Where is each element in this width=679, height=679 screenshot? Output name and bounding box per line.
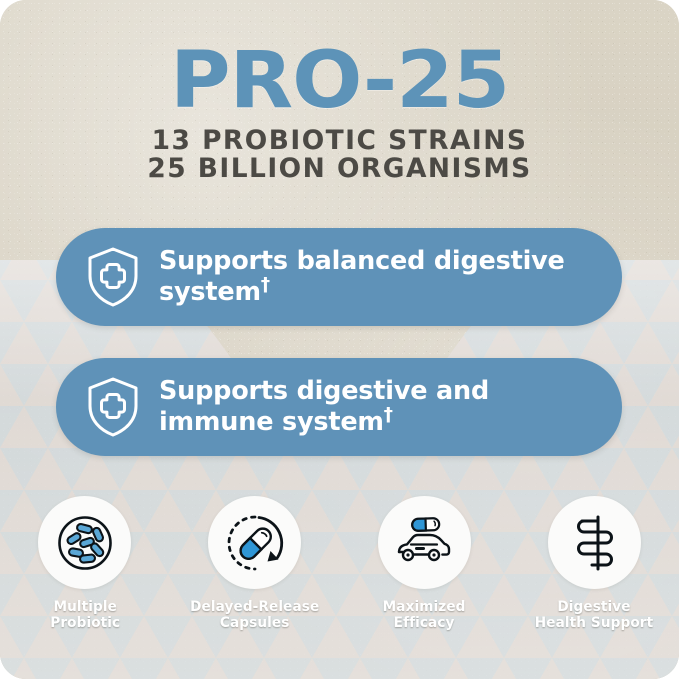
- claim-pill-1: Supports balanced digestive system†: [56, 228, 622, 326]
- feature-label-line-1: Delayed-Release: [190, 599, 319, 615]
- feature-digestive-health-support: Digestive Health Support: [509, 496, 679, 656]
- brand-title: PRO-25: [0, 44, 679, 119]
- subtitle-line-2: 25 BILLION ORGANISMS: [7, 155, 672, 183]
- feature-label: Maximized Efficacy: [383, 599, 466, 631]
- claim-pill-1-dagger: †: [261, 275, 270, 296]
- subtitle-line-1: 13 PROBIOTIC STRAINS: [7, 127, 672, 155]
- feature-label-line-2: Probiotic: [50, 615, 120, 631]
- feature-multiple-probiotic: Multiple Probiotic: [0, 496, 170, 656]
- petri-dish-bacteria-icon: [53, 511, 117, 575]
- feature-label: Delayed-Release Capsules: [190, 599, 319, 631]
- feature-disc: [378, 496, 471, 589]
- claim-pill-1-label: Supports balanced digestive system: [159, 246, 565, 307]
- feature-disc: [38, 496, 131, 589]
- feature-label: Digestive Health Support: [535, 599, 653, 631]
- car-capsule-icon: [392, 511, 456, 575]
- product-subtitle: 13 PROBIOTIC STRAINS 25 BILLION ORGANISM…: [7, 127, 672, 183]
- feature-label-line-1: Multiple: [50, 599, 120, 615]
- feature-disc: [548, 496, 641, 589]
- claim-pill-2-text: Supports digestive and immune system†: [159, 376, 579, 438]
- feature-label-line-1: Digestive: [535, 599, 653, 615]
- claim-pill-2-label: Supports digestive and immune system: [159, 376, 489, 437]
- shield-plus-icon: [85, 246, 141, 308]
- header-block: PRO-25 13 PROBIOTIC STRAINS 25 BILLION O…: [0, 44, 679, 182]
- product-infographic-card: PRO-25 13 PROBIOTIC STRAINS 25 BILLION O…: [0, 0, 679, 679]
- feature-label-line-2: Efficacy: [383, 615, 466, 631]
- claim-pill-2-dagger: †: [384, 405, 393, 426]
- feature-label: Multiple Probiotic: [50, 599, 120, 631]
- claim-pill-1-text: Supports balanced digestive system†: [159, 246, 579, 308]
- feature-label-line-2: Health Support: [535, 615, 653, 631]
- feature-label-line-2: Capsules: [190, 615, 319, 631]
- claim-pill-2: Supports digestive and immune system†: [56, 358, 622, 456]
- feature-delayed-release-capsules: Delayed-Release Capsules: [170, 496, 340, 656]
- shield-plus-icon: [85, 376, 141, 438]
- feature-label-line-1: Maximized: [383, 599, 466, 615]
- capsule-dashed-arrow-icon: [223, 511, 287, 575]
- feature-disc: [208, 496, 301, 589]
- intestine-icon: [562, 511, 626, 575]
- feature-badge-row: Multiple Probiotic: [0, 496, 679, 656]
- feature-maximized-efficacy: Maximized Efficacy: [340, 496, 510, 656]
